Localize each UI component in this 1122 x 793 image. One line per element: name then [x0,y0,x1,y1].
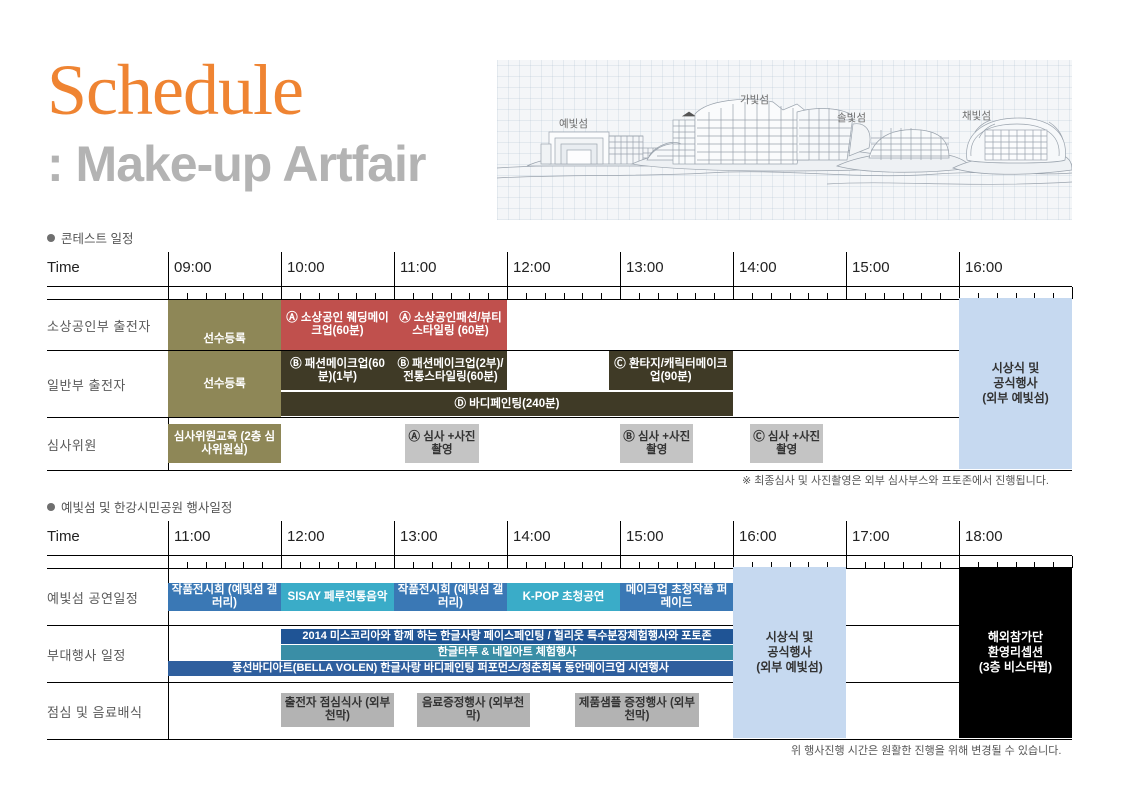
tick-mark [771,293,772,299]
schedule-bar[interactable]: 선수등록 [168,351,281,417]
tick-mark [564,562,565,568]
table-row: 심사위원심사위원교육 (2층 심사위원실)Ⓐ 심사 +사진촬영Ⓑ 심사 +사진촬… [47,418,1072,471]
tick-mark [545,562,546,568]
tick-mark [865,562,866,568]
tick-mark [658,293,659,299]
schedule-overlay-block[interactable]: 시상식 및 공식행사 (외부 예빛섬) [733,567,846,738]
table-row: 일반부 출전자선수등록Ⓑ 패션메이크업(60분)(1부)Ⓑ 패션메이크업(2부)… [47,351,1072,418]
bullet-icon [47,234,55,242]
time-tick-ruler [47,287,1072,300]
title-main: Schedule [47,52,425,128]
tick-mark [338,562,339,568]
schedule-bar[interactable]: Ⓐ 소상공인 웨딩메이크업(60분) [281,300,394,350]
tick-mark [187,562,188,568]
time-header-cell: 12:00 [281,521,394,555]
events-schedule-table: Time11:0012:0013:0014:0015:0016:0017:001… [47,521,1072,740]
table-row: 부대행사 일정2014 미스코리아와 함께 하는 한글사랑 페이스페인팅 / 헐… [47,626,1072,683]
schedule-bar[interactable]: 음료증정행사 (외부천막) [417,693,530,727]
tick-mark [582,562,583,568]
tick-mark [206,562,207,568]
tick-mark [601,293,602,299]
schedule-bar[interactable]: 풍선바디아트(BELLA VOLEN) 한글사랑 바디페인팅 퍼포먼스/청춘회복… [168,661,733,676]
schedule-page: Schedule : Make-up Artfair [0,0,1122,793]
tick-mark [375,293,376,299]
tick-mark [695,562,696,568]
table-header-row: Time11:0012:0013:0014:0015:0016:0017:001… [47,521,1072,556]
row-label: 일반부 출전자 [47,351,168,417]
tick-mark [281,287,282,299]
tick-mark [469,293,470,299]
contest-note: ※ 최종심사 및 사진촬영은 외부 심사부스와 프토존에서 진행됩니다. [742,472,1049,488]
tick-mark [413,562,414,568]
schedule-bar[interactable]: 2014 미스코리아와 함께 하는 한글사랑 페이스페인팅 / 헐리웃 특수분장… [281,629,733,644]
islands-drawing [497,60,1072,220]
tick-mark [262,293,263,299]
table-row: 점심 및 음료배식출전자 점심식사 (외부천막)음료증정행사 (외부천막)제품샘… [47,683,1072,740]
schedule-bar[interactable]: Ⓑ 심사 +사진촬영 [620,424,693,463]
tick-mark [394,287,395,299]
time-header-cell: 11:00 [394,252,507,286]
schedule-bar[interactable]: 메이크업 초청작품 퍼레이드 [620,583,733,611]
schedule-overlay-block[interactable]: 시상식 및 공식행사 (외부 예빛섬) [959,298,1072,469]
tick-mark [526,562,527,568]
tick-mark [451,562,452,568]
tick-mark [865,293,866,299]
page-title: Schedule : Make-up Artfair [47,52,425,192]
tick-mark [695,293,696,299]
title-subtitle: : Make-up Artfair [47,136,425,192]
tick-mark [714,293,715,299]
row-label: 부대행사 일정 [47,626,168,682]
tick-mark [903,562,904,568]
schedule-bar[interactable]: K-POP 초청공연 [507,583,620,611]
section1-caption-text: 콘테스트 일정 [61,232,133,246]
time-header-cell: 15:00 [620,521,733,555]
schedule-bar[interactable]: 작품전시회 (예빛섬 갤러리) [168,583,281,611]
table-row: 예빛섬 공연일정작품전시회 (예빛섬 갤러리)SISAY 페루전통음악작품전시회… [47,569,1072,626]
tick-mark [432,562,433,568]
time-header-cell: 15:00 [846,252,959,286]
row-label: 점심 및 음료배식 [47,683,168,739]
schedule-overlay-block[interactable]: 해외참가단 환영리셉션 (3층 비스타펍) [959,567,1072,738]
tick-mark [620,556,621,568]
time-header-cell: 14:00 [507,521,620,555]
tick-mark [620,287,621,299]
tick-mark [319,293,320,299]
schedule-bar[interactable]: Ⓑ 패션메이크업(60분)(1부) [281,351,394,390]
tick-mark [733,287,734,299]
row-label: 예빛섬 공연일정 [47,569,168,625]
island-label: 채빛섬 [962,108,991,123]
time-header-cell: 11:00 [168,521,281,555]
row-label: 심사위원 [47,418,168,470]
tick-mark [300,562,301,568]
tick-mark [469,562,470,568]
table-body: 예빛섬 공연일정작품전시회 (예빛섬 갤러리)SISAY 페루전통음악작품전시회… [47,569,1072,740]
tick-mark [846,556,847,568]
time-header-cell: 13:00 [394,521,507,555]
tick-mark [394,556,395,568]
tick-mark [639,293,640,299]
schedule-bar[interactable]: 제품샘플 증정행사 (외부천막) [575,693,699,727]
row-label: 소상공인부 출전자 [47,300,168,350]
time-header-cell: 14:00 [733,252,846,286]
tick-mark [507,556,508,568]
time-column-header: Time [47,528,80,545]
tick-mark [601,562,602,568]
table-header-row: Time09:0010:0011:0012:0013:0014:0015:001… [47,252,1072,287]
tick-mark [356,562,357,568]
tick-mark [582,293,583,299]
time-header-cell: 18:00 [959,521,1072,555]
section2-caption-text: 예빛섬 및 한강시민공원 행사일정 [61,501,232,515]
tick-mark [1072,556,1073,568]
time-header-cell: 16:00 [733,521,846,555]
tick-mark [658,562,659,568]
island-label: 솔빛섬 [837,110,866,125]
tick-mark [921,562,922,568]
tick-mark [884,562,885,568]
time-header-cell: 10:00 [281,252,394,286]
bullet-icon [47,503,55,511]
tick-mark [921,293,922,299]
time-header-cell: 13:00 [620,252,733,286]
tick-mark [187,293,188,299]
table-body: 소상공인부 출전자선수등록Ⓐ 소상공인 웨딩메이크업(60분)Ⓐ 소상공인패션/… [47,300,1072,471]
tick-mark [432,293,433,299]
schedule-bar[interactable]: SISAY 페루전통음악 [281,583,394,611]
tick-mark [940,562,941,568]
schedule-bar[interactable]: Ⓓ 바디페인팅(240분) [281,392,733,416]
schedule-bar[interactable]: 한글타투 & 네일아트 체험행사 [281,645,733,660]
tick-mark [884,293,885,299]
schedule-bar[interactable]: 선수등록 [168,300,281,350]
tick-mark [168,556,169,568]
tick-mark [752,293,753,299]
tick-mark [281,556,282,568]
tick-mark [225,562,226,568]
tick-mark [940,293,941,299]
schedule-bar[interactable]: Ⓐ 심사 +사진촬영 [405,424,478,463]
schedule-bar[interactable]: 작품전시회 (예빛섬 갤러리) [394,583,507,611]
time-header-cell: 12:00 [507,252,620,286]
tick-mark [564,293,565,299]
tick-mark [677,562,678,568]
tick-mark [639,562,640,568]
tick-mark [846,287,847,299]
events-note: 위 행사진행 시간은 원활한 진행을 위해 변경될 수 있습니다. [791,742,1061,758]
tick-mark [1072,287,1073,299]
schedule-bar[interactable]: 출전자 점심식사 (외부천막) [281,693,394,727]
tick-mark [243,562,244,568]
schedule-bar[interactable]: 심사위원교육 (2층 심사위원실) [168,424,281,463]
tick-mark [262,562,263,568]
time-header-cell: 16:00 [959,252,1072,286]
tick-mark [488,562,489,568]
hangang-islands-illustration: 예빛섬 가빛섬 솔빛섬 채빛섬 [497,60,1072,220]
tick-mark [243,293,244,299]
tick-mark [677,293,678,299]
tick-mark [714,562,715,568]
schedule-bar[interactable]: Ⓒ 심사 +사진촬영 [750,424,823,463]
tick-mark [225,293,226,299]
time-tick-ruler [47,556,1072,569]
time-header-cell: 17:00 [846,521,959,555]
time-header-cell: 09:00 [168,252,281,286]
section-caption-events: 예빛섬 및 한강시민공원 행사일정 [47,497,232,516]
schedule-bar[interactable]: Ⓒ 환타지/캐릭터메이크업(90분) [609,351,733,390]
tick-mark [319,562,320,568]
table-row: 소상공인부 출전자선수등록Ⓐ 소상공인 웨딩메이크업(60분)Ⓐ 소상공인패션/… [47,300,1072,351]
schedule-bar[interactable]: Ⓐ 소상공인패션/뷰티스타일링 (60분) [394,300,507,350]
tick-mark [168,287,169,299]
tick-mark [413,293,414,299]
tick-mark [903,293,904,299]
tick-mark [526,293,527,299]
time-column-header: Time [47,259,80,276]
tick-mark [356,293,357,299]
section-caption-contest: 콘테스트 일정 [47,228,133,247]
tick-mark [338,293,339,299]
tick-mark [300,293,301,299]
island-label: 가빛섬 [740,92,769,107]
island-label: 예빛섬 [559,116,588,131]
schedule-bar[interactable]: Ⓑ 패션메이크업(2부)/전통스타일링(60분) [394,351,507,390]
tick-mark [451,293,452,299]
tick-mark [206,293,207,299]
tick-mark [827,293,828,299]
tick-mark [790,293,791,299]
tick-mark [507,287,508,299]
column-divider [168,683,169,739]
tick-mark [375,562,376,568]
tick-mark [545,293,546,299]
tick-mark [488,293,489,299]
contest-schedule-table: Time09:0010:0011:0012:0013:0014:0015:001… [47,252,1072,471]
tick-mark [808,293,809,299]
